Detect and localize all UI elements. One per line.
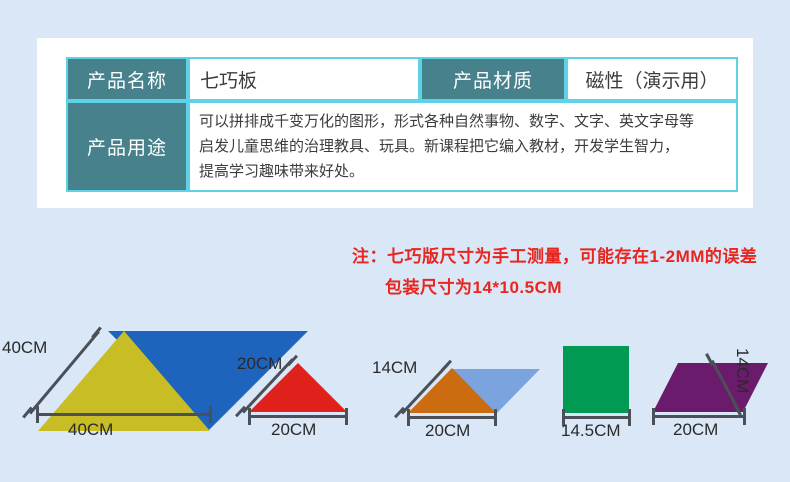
spec-value-material: 磁性（演示用）	[566, 57, 738, 101]
dim-label-purple-base: 20CM	[673, 420, 718, 440]
dim-tick-red-base-left	[248, 408, 251, 425]
dim-label-yellow-side: 40CM	[2, 338, 47, 358]
table-row: 产品用途 可以拼排成千变万化的图形，形式各种自然事物、数字、文字、英文字母等 启…	[66, 101, 738, 192]
dim-tick-yellow-base-right	[209, 406, 212, 423]
usage-line-1: 可以拼排成千变万化的图形，形式各种自然事物、数字、文字、英文字母等	[199, 109, 732, 134]
note-line-1: 注：七巧版尺寸为手工测量，可能存在1-2MM的误差	[352, 241, 757, 272]
dim-line-red-base	[248, 415, 348, 418]
note-line-2: 包装尺寸为14*10.5CM	[352, 272, 757, 303]
dim-line-green-base	[562, 416, 631, 419]
dim-label-purple-side: 14CM	[732, 348, 752, 393]
usage-line-3: 提高学习趣味带来好处。	[199, 159, 732, 184]
product-spec-table: 产品名称 七巧板 产品材质 磁性（演示用） 产品用途 可以拼排成千变万化的图形，…	[66, 57, 738, 192]
dim-label-red-side: 20CM	[237, 354, 282, 374]
spec-label-product-name: 产品名称	[66, 57, 188, 101]
table-row: 产品名称 七巧板 产品材质 磁性（演示用）	[66, 57, 738, 101]
dim-label-orange-base: 20CM	[425, 421, 470, 441]
dim-tick-green-base-right	[628, 409, 631, 426]
measurement-note: 注：七巧版尺寸为手工测量，可能存在1-2MM的误差 包装尺寸为14*10.5CM	[352, 241, 757, 303]
dim-tick-orange-base-left	[407, 409, 410, 426]
dim-line-purple-base	[652, 415, 746, 418]
usage-line-2: 启发儿童思维的治理教具、玩具。新课程把它编入教材，开发学生智力，	[199, 134, 732, 159]
spec-label-usage: 产品用途	[66, 101, 188, 192]
dim-label-yellow-base: 40CM	[68, 420, 113, 440]
dim-line-orange-base	[407, 416, 497, 419]
tangram-shapes-diagram: 40CM 40CM 20CM 20CM 20CM 14CM 14.5CM 20C…	[0, 300, 790, 482]
green-square	[563, 346, 629, 413]
dim-label-red-base: 20CM	[271, 420, 316, 440]
dim-tick-purple-base-left	[652, 408, 655, 425]
dim-tick-red-base-right	[345, 408, 348, 425]
dim-label-green-base: 14.5CM	[561, 421, 621, 441]
large-yellow-triangle	[38, 331, 210, 432]
spec-label-material: 产品材质	[420, 57, 566, 101]
dim-line-yellow-base	[36, 413, 212, 416]
dim-tick-purple-base-right	[743, 408, 746, 425]
spec-value-usage: 可以拼排成千变万化的图形，形式各种自然事物、数字、文字、英文字母等 启发儿童思维…	[188, 101, 738, 192]
dim-label-orange-side: 14CM	[372, 358, 417, 378]
spec-value-product-name: 七巧板	[188, 57, 420, 101]
dim-tick-yellow-base-left	[36, 406, 39, 423]
dim-tick-orange-base-right	[494, 409, 497, 426]
